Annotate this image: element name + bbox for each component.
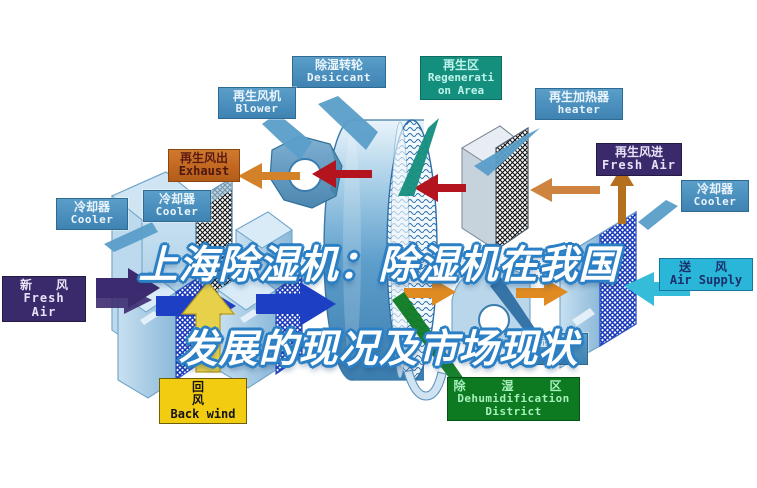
label-cooler-right[interactable]: 冷却器 Cooler (681, 180, 749, 212)
label-cooler-right-cn: 冷却器 (686, 183, 744, 196)
label-dehumidification-district[interactable]: 除 湿 区 Dehumidification District (447, 377, 580, 421)
label-regeneration-blower-cn: 再生风机 (223, 90, 291, 103)
drip-tray (404, 370, 446, 400)
label-cooler-mid-cn: 冷却器 (148, 193, 206, 206)
label-desiccant-wheel[interactable]: 除湿转轮 Desiccant (292, 56, 386, 88)
label-fresh-air-in-en: Fresh Air (7, 292, 81, 319)
label-regeneration-heater-en: heater (540, 104, 618, 116)
dehumidifier-diagram: xt (0, 0, 757, 488)
label-cooler-left-en: Cooler (61, 214, 123, 226)
mid-bottom-cooler (218, 270, 302, 388)
label-regeneration-blower-en: Blower (223, 103, 291, 115)
label-fresh-air-in[interactable]: 新 风 Fresh Air (2, 276, 86, 322)
label-air-supply-en: Air Supply (664, 274, 748, 287)
label-back-wind-cn: 回 风 (164, 381, 242, 408)
label-regeneration-heater-cn: 再生加热器 (540, 91, 618, 104)
label-regeneration-fresh-air-en: Fresh Air (601, 159, 677, 172)
label-exhaust-en: Exhaust (173, 165, 235, 178)
label-cooler-left[interactable]: 冷却器 Cooler (56, 198, 128, 230)
label-regeneration-heater[interactable]: 再生加热器 heater (535, 88, 623, 120)
label-regeneration-fresh-air[interactable]: 再生风进 Fresh Air (596, 143, 682, 176)
label-exhaust-cn: 再生风出 (173, 152, 235, 165)
label-back-wind[interactable]: 回 风 Back wind (159, 378, 247, 424)
label-regeneration-blower[interactable]: 再生风机 Blower (218, 87, 296, 119)
label-regeneration-area-en1: Regenerati (425, 72, 497, 84)
label-cooler-left-cn: 冷却器 (61, 201, 123, 214)
label-desiccant-wheel-cn: 除湿转轮 (297, 59, 381, 72)
arrow-regen-intake-orange (530, 178, 600, 202)
rotor-watermark-text: xt (362, 340, 376, 356)
label-air-supply[interactable]: 送 风 Air Supply (659, 258, 753, 291)
label-dehumidification-district-cn: 除 湿 区 (452, 380, 575, 393)
label-dehumidification-blower-en: Blower (513, 349, 583, 361)
label-air-supply-cn: 送 风 (664, 261, 748, 274)
label-fresh-air-in-cn: 新 风 (7, 279, 81, 292)
label-dehumidification-blower[interactable]: 除湿风机 Blower (508, 333, 588, 365)
label-regeneration-area-cn: 再生区 (425, 59, 497, 72)
label-dehumidification-blower-cn: 除湿风机 (513, 336, 583, 349)
label-cooler-right-en: Cooler (686, 196, 744, 208)
label-regeneration-area[interactable]: 再生区 Regenerati on Area (420, 56, 502, 100)
label-back-wind-en: Back wind (164, 408, 242, 421)
label-dehumidification-district-en1: Dehumidification (452, 393, 575, 405)
label-cooler-mid[interactable]: 冷却器 Cooler (143, 190, 211, 222)
label-regeneration-area-en2: on Area (425, 85, 497, 97)
label-cooler-mid-en: Cooler (148, 206, 206, 218)
label-desiccant-wheel-en: Desiccant (297, 72, 381, 84)
label-dehumidification-district-en2: District (452, 406, 575, 418)
label-regeneration-fresh-air-cn: 再生风进 (601, 146, 677, 159)
label-exhaust[interactable]: 再生风出 Exhaust (168, 149, 240, 182)
